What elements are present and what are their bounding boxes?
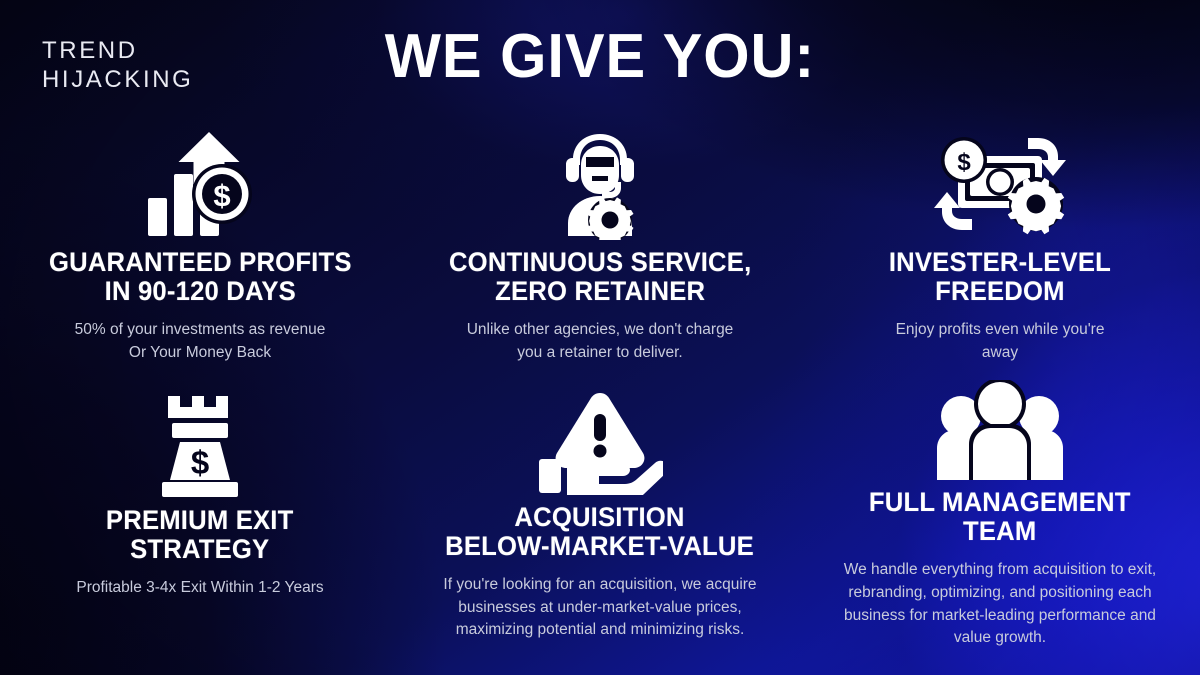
slide-content: TREND HIJACKING WE GIVE YOU: $ bbox=[0, 0, 1200, 675]
benefit-title-line-1: CONTINUOUS SERVICE, bbox=[449, 247, 751, 277]
svg-text:$: $ bbox=[191, 444, 209, 481]
benefit-card-guaranteed-profits: $ GUARANTEED PROFITS IN 90-120 DAYS 50% … bbox=[0, 118, 400, 380]
people-group-icon bbox=[933, 380, 1067, 480]
benefit-title-line-1: FULL MANAGEMENT bbox=[869, 487, 1131, 517]
benefit-card-investor-freedom: $ INVESTER-LEVEL FREEDOM Enjoy profits e… bbox=[800, 118, 1200, 380]
benefit-card-title: PREMIUM EXIT STRATEGY bbox=[106, 506, 294, 564]
benefit-title-line-1: GUARANTEED PROFITS bbox=[49, 247, 352, 277]
benefit-card-body: We handle everything from acquisition to… bbox=[824, 559, 1176, 650]
benefit-body-line-1: 50% of your investments as revenue bbox=[75, 321, 326, 338]
benefit-title-line-2: STRATEGY bbox=[130, 534, 269, 564]
chess-rook-dollar-icon: $ bbox=[152, 380, 248, 498]
benefit-body-line-2: you a retainer to deliver. bbox=[517, 344, 682, 361]
benefit-title-line-2: BELOW-MARKET-VALUE bbox=[446, 531, 755, 561]
cash-flow-gear-icon: $ bbox=[932, 118, 1068, 240]
benefit-title-line-2: ZERO RETAINER bbox=[495, 276, 705, 306]
benefit-title-line-1: PREMIUM EXIT bbox=[106, 505, 294, 535]
benefit-title-line-2: FREEDOM bbox=[935, 276, 1065, 306]
benefit-card-title: ACQUISITION BELOW-MARKET-VALUE bbox=[446, 503, 755, 561]
benefit-card-body: 50% of your investments as revenue Or Yo… bbox=[75, 319, 326, 364]
benefit-card-body: Enjoy profits even while you're away bbox=[896, 319, 1105, 364]
benefit-body-line-1: Unlike other agencies, we don't charge bbox=[467, 321, 734, 338]
hand-warning-triangle-icon bbox=[537, 380, 663, 495]
benefit-title-line-1: ACQUISITION bbox=[515, 502, 685, 532]
benefit-card-full-management: FULL MANAGEMENT TEAM We handle everythin… bbox=[800, 380, 1200, 642]
benefits-grid: $ GUARANTEED PROFITS IN 90-120 DAYS 50% … bbox=[0, 118, 1200, 642]
benefit-card-premium-exit: $ PREMIUM EXIT STRATEGY Profitable 3-4x … bbox=[0, 380, 400, 642]
benefit-card-title: FULL MANAGEMENT TEAM bbox=[869, 488, 1131, 546]
benefit-body-line-1: Enjoy profits even while you're bbox=[896, 321, 1105, 338]
slide-canvas: TREND HIJACKING WE GIVE YOU: $ bbox=[0, 0, 1200, 675]
svg-text:$: $ bbox=[213, 178, 230, 213]
benefit-card-continuous-service: CONTINUOUS SERVICE, ZERO RETAINER Unlike… bbox=[400, 118, 800, 380]
benefit-card-title: CONTINUOUS SERVICE, ZERO RETAINER bbox=[449, 248, 751, 306]
benefit-title-line-2: IN 90-120 DAYS bbox=[104, 276, 295, 306]
benefit-body-line-2: away bbox=[982, 344, 1018, 361]
support-agent-gear-icon bbox=[548, 118, 652, 240]
benefit-title-line-1: INVESTER-LEVEL bbox=[889, 247, 1111, 277]
growth-chart-dollar-icon: $ bbox=[144, 118, 256, 240]
benefit-card-title: INVESTER-LEVEL FREEDOM bbox=[889, 248, 1111, 306]
benefit-card-title: GUARANTEED PROFITS IN 90-120 DAYS bbox=[49, 248, 352, 306]
benefit-card-body: Profitable 3-4x Exit Within 1-2 Years bbox=[76, 577, 323, 600]
benefit-title-line-2: TEAM bbox=[963, 516, 1036, 546]
page-title: WE GIVE YOU: bbox=[24, 24, 1176, 89]
svg-text:$: $ bbox=[957, 149, 971, 176]
benefit-card-body: If you're looking for an acquisition, we… bbox=[440, 574, 760, 642]
benefit-card-body: Unlike other agencies, we don't charge y… bbox=[467, 319, 734, 364]
benefit-body-line-2: Or Your Money Back bbox=[129, 344, 271, 361]
benefit-card-acquisition: ACQUISITION BELOW-MARKET-VALUE If you're… bbox=[400, 380, 800, 642]
